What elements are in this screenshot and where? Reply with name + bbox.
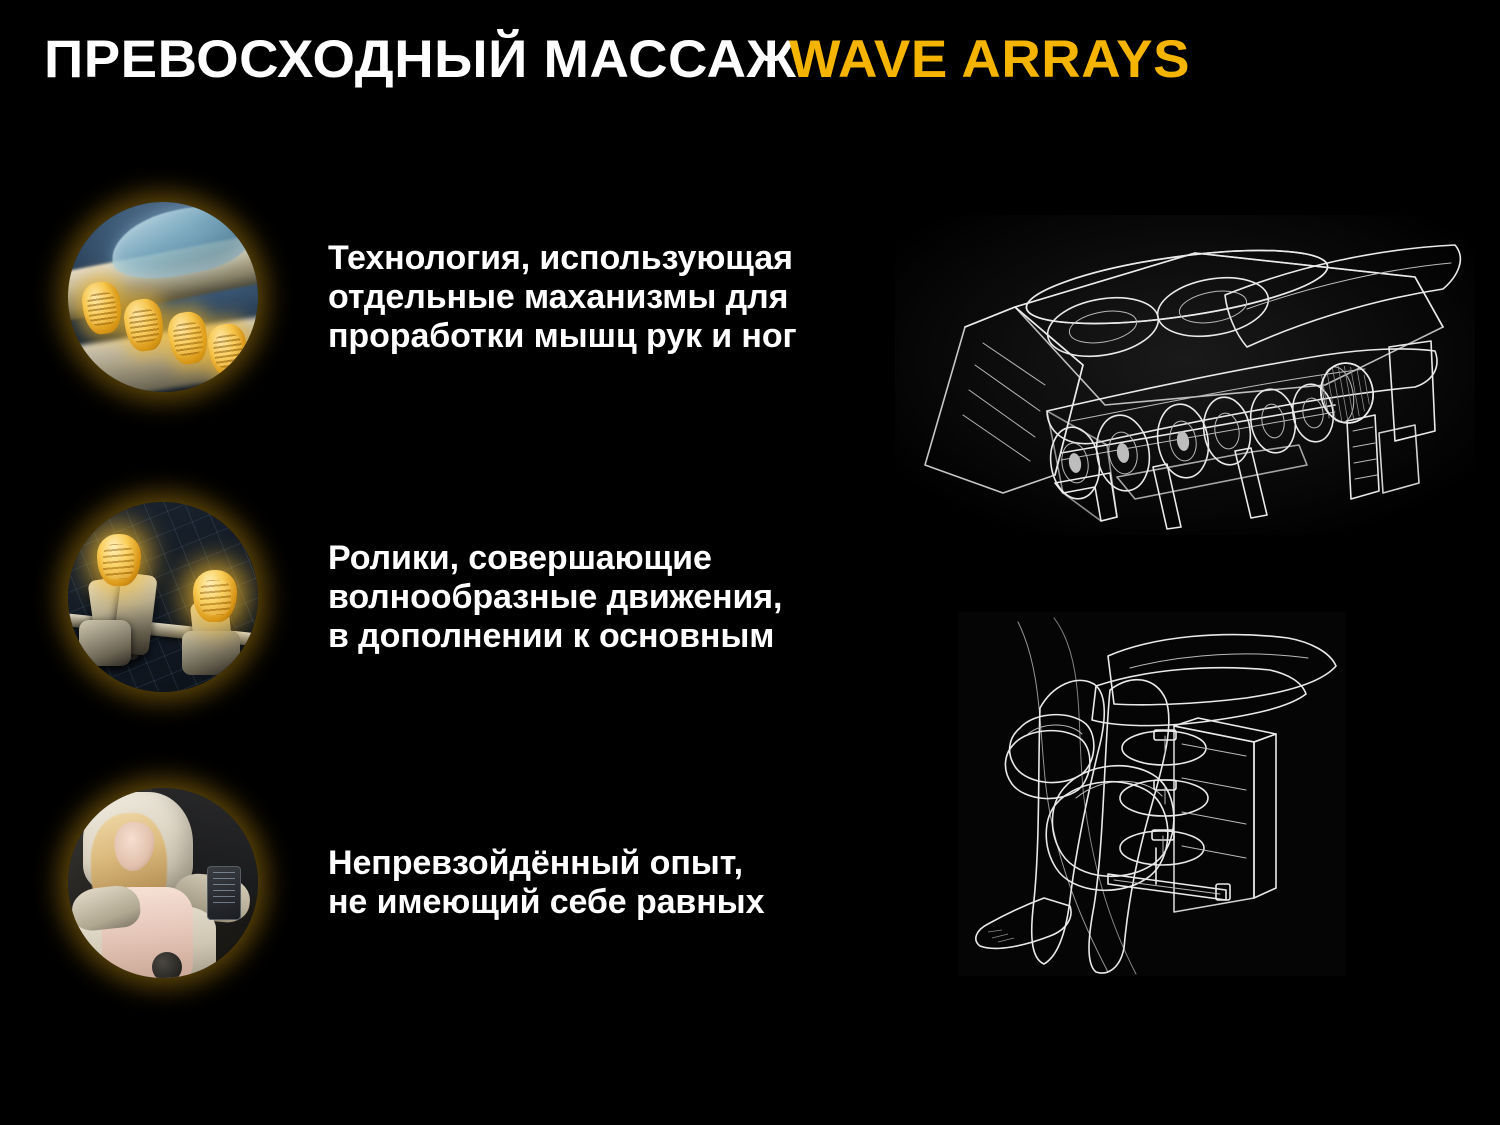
remote-control-icon (207, 866, 241, 920)
roller-mechanism-closeup-photo (68, 202, 258, 392)
feature-thumbnail-3 (68, 788, 258, 978)
feature-text-2: Ролики, совершающие волнообразные движен… (328, 539, 782, 656)
feature-text-3: Непревзойдённый опыт, не имеющий себе ра… (328, 844, 764, 922)
feature-thumbnail-2 (68, 502, 258, 692)
feature-thumbnail-1 (68, 202, 258, 392)
feature-item-3: Непревзойдённый опыт, не имеющий себе ра… (0, 783, 900, 983)
feature-item-1: Технология, использующая отдельные махан… (0, 197, 900, 397)
feature-text-1: Технология, использующая отдельные махан… (328, 239, 797, 356)
wave-roller-arms-photo (68, 502, 258, 692)
leg-airbag-roller-module-diagram (958, 612, 1346, 976)
calf-roller-assembly-diagram (895, 215, 1475, 535)
feature-list: Технология, использующая отдельные махан… (0, 0, 900, 1125)
woman-in-massage-chair-photo (68, 788, 258, 978)
feature-item-2: Ролики, совершающие волнообразные движен… (0, 497, 900, 697)
